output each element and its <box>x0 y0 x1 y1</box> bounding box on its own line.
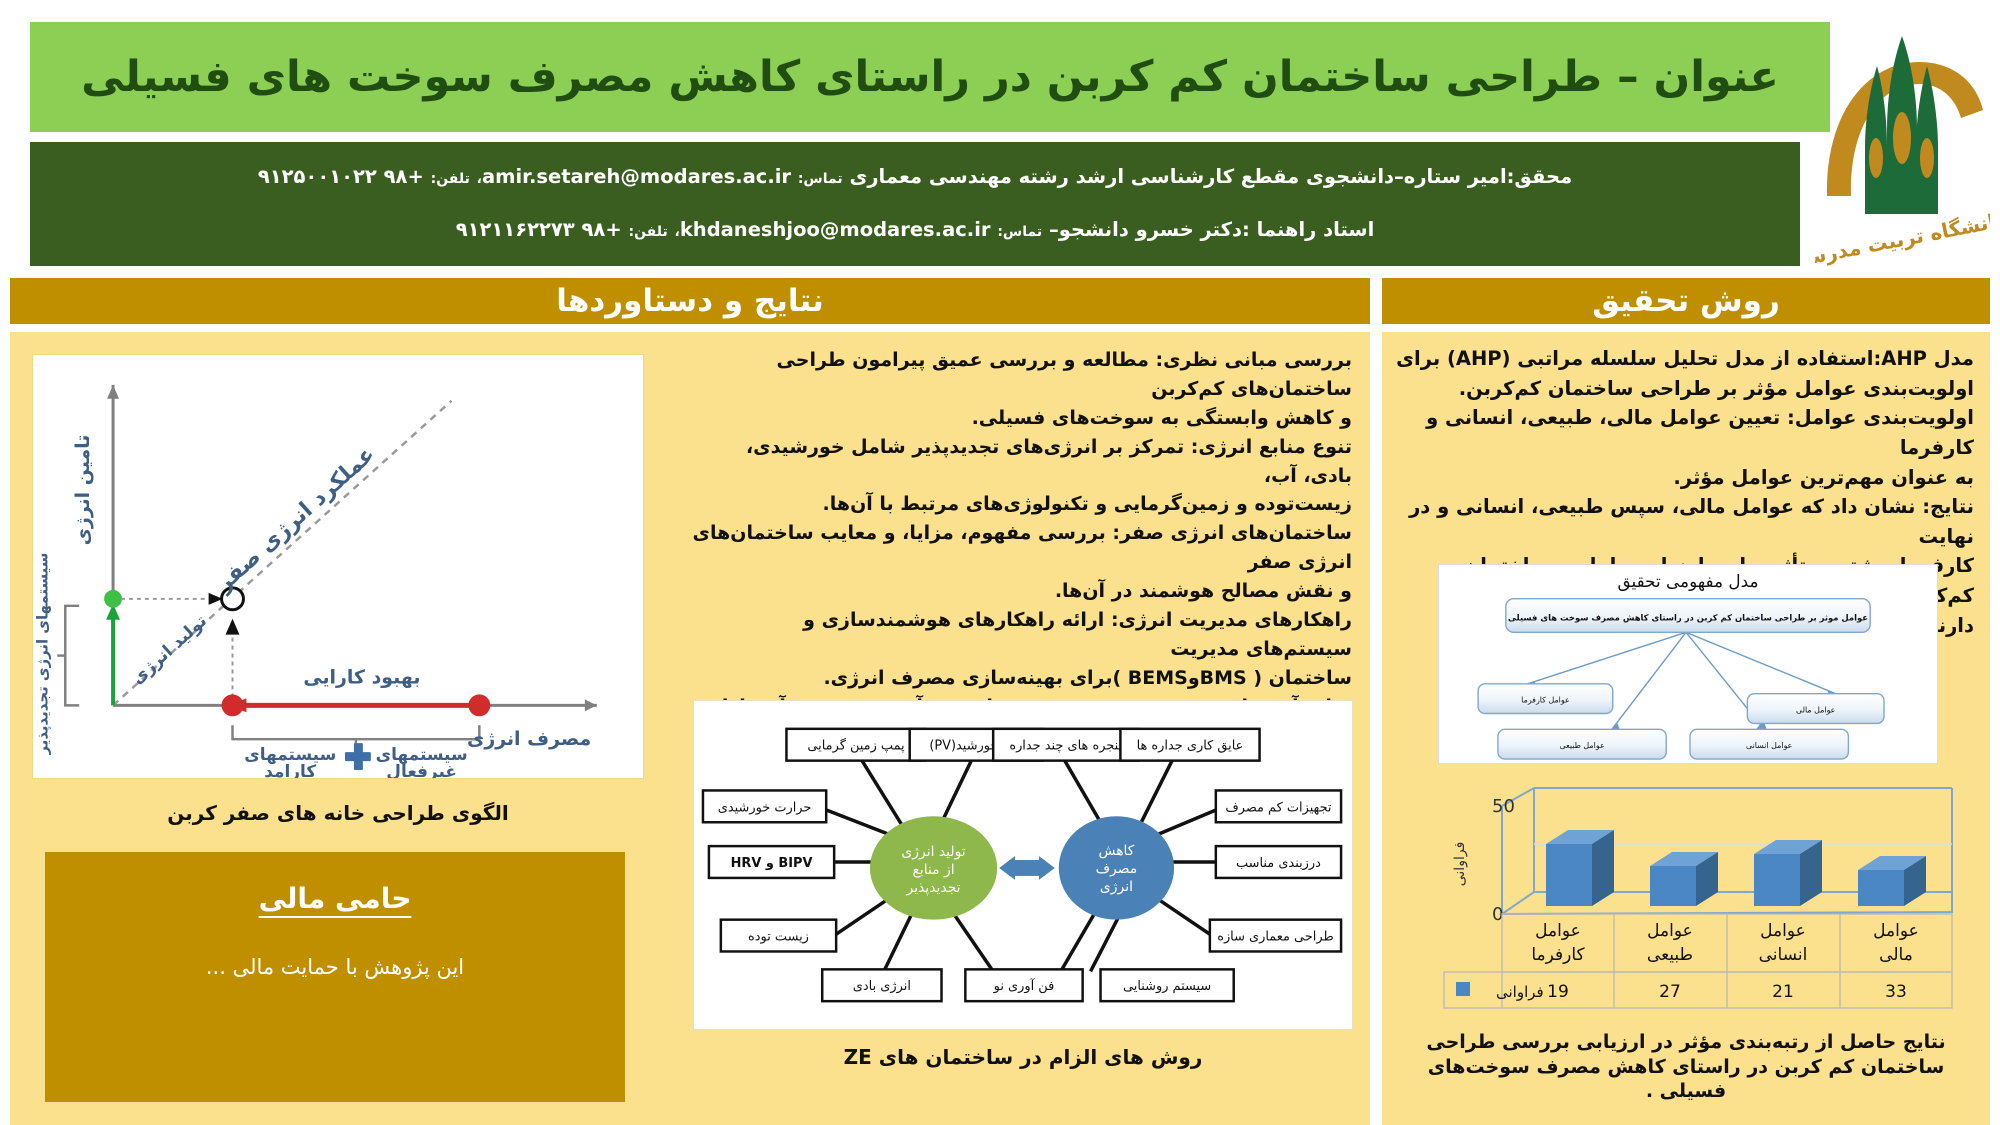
poster-title-bar: عنوان – طراحی ساختمان کم کربن در راستای … <box>30 22 1830 132</box>
sponsor-box: حامی مالی این پژوهش با حمایت مالی ... <box>45 852 625 1102</box>
diagram-y-axis-label: تامین انرژی <box>72 435 94 546</box>
data-value: 21 <box>1772 982 1794 1002</box>
node-label: طراحی معماری سازه <box>1217 930 1334 945</box>
university-logo: دانشگاه تربیت مدرس <box>1815 18 1990 266</box>
diagram-passive-label-2: غیرفعال <box>386 761 457 778</box>
supervisor-phone-label: تلفن: <box>628 224 667 240</box>
poster-root: عنوان – طراحی ساختمان کم کربن در راستای … <box>0 0 2000 1125</box>
node-label: پنجره های چند جداره <box>1009 739 1122 754</box>
left-hub-label-1: تولید انرژی <box>901 844 965 860</box>
supervisor-contact-label: تماس: <box>997 224 1042 240</box>
category-label: عوامل <box>1873 921 1919 941</box>
y-tick-top: 50 <box>1492 796 1515 817</box>
right-line: اولویت‌بندی عوامل: تعیین عوامل مالی، طبی… <box>1396 403 1974 462</box>
mid-line: ساختمان ( BMSوBEMS )برای بهینه‌سازی مصرف… <box>692 664 1352 693</box>
mid-line: ساختمان‌های انرژی صفر: بررسی مفهوم، مزای… <box>692 519 1352 577</box>
category-label-2: انسانی <box>1759 945 1808 965</box>
node-label: پمپ زمین گرمایی <box>807 738 905 754</box>
authors-bar: محقق:امیر ستاره–دانشجوی مقطع کارشناسی ار… <box>30 142 1800 266</box>
right-line: مدل AHP:استفاده از مدل تحلیل سلسله مراتب… <box>1396 344 1974 374</box>
bar-group <box>1858 856 1926 906</box>
concept-model-title: مدل مفهومی تحقیق <box>1618 571 1759 592</box>
category-label-2: طبیعی <box>1647 945 1693 965</box>
category-label: عوامل <box>1760 921 1806 941</box>
concept-root-label: عوامل موثر بر طراحی ساختمان کم کربن در ر… <box>1508 612 1868 623</box>
supervisor-email[interactable]: khdaneshjoo@modares.ac.ir <box>680 218 991 241</box>
left-hub-label-3: تجدیدپذیر <box>906 880 961 896</box>
zero-carbon-design-diagram: تامین انرژی مصرف انرژی عملکرد انرژی صفر … <box>32 354 644 779</box>
diagram-renewable-bracket-label: سیستمهای انرژی تجدیدپذیر <box>33 553 51 756</box>
left-panel: تامین انرژی مصرف انرژی عملکرد انرژی صفر … <box>10 332 675 1125</box>
right-hub-label-1: کاهش <box>1098 843 1134 859</box>
right-line: اولویت‌بندی عوامل مؤثر بر طراحی ساختمان … <box>1396 374 1974 404</box>
concept-child-label: عوامل مالی <box>1796 706 1835 715</box>
data-value: 33 <box>1885 982 1907 1002</box>
mindmap-node: پنجره های چند جداره <box>993 729 1138 761</box>
mindmap-node: تجهیزات کم مصرف <box>1216 790 1341 822</box>
category-label: عوامل <box>1647 921 1693 941</box>
mindmap-node: BIPV و HRV <box>709 846 834 878</box>
right-figure-caption: نتایج حاصل از رتبه‌بندی مؤثر در ارزیابی … <box>1394 1030 1978 1104</box>
mindmap-node: فن آوری نو <box>965 969 1082 1001</box>
researcher-email[interactable]: amir.setareh@modares.ac.ir <box>482 165 791 188</box>
concept-child-label: عوامل کارفرما <box>1521 696 1570 705</box>
logo-caption-text: دانشگاه تربیت مدرس <box>1815 207 1990 266</box>
mid-line: و کاهش وابستگی به سوخت‌های فسیلی. <box>692 404 1352 433</box>
right-line: به عنوان مهم‌ترین عوامل مؤثر. <box>1396 463 1974 493</box>
mid-line: راهکارهای مدیریت انرژی: ارائه راهکارهای … <box>692 606 1352 664</box>
bar-group <box>1754 840 1822 906</box>
concept-child-label: عوامل طبیعی <box>1559 741 1604 750</box>
mindmap-node: انرژی بادی <box>822 969 941 1001</box>
frequency-bar-chart: 50 0 فراوانی <box>1392 784 1982 1022</box>
supervisor-name: استاد راهنما :دکتر خسرو دانشجو– <box>1049 218 1374 241</box>
left-hub-label-2: از منابع <box>912 862 954 878</box>
supervisor-phone: +۹۸ ۹۱۲۱۱۶۲۲۷۳ <box>456 218 622 241</box>
node-label: فن آوری نو <box>993 978 1055 994</box>
legend-label: فراوانی <box>1496 983 1544 1001</box>
middle-figure-caption: روش های الزام در ساختمان های ZE <box>693 1044 1353 1070</box>
section-title-results: نتایج و دستاوردها <box>556 283 824 319</box>
ze-methods-mindmap: تولید انرژی از منابع تجدیدپذیر کاهش مصرف… <box>693 700 1353 1030</box>
y-axis-label: فراوانی <box>1452 842 1468 887</box>
node-label: عایق کاری جداره ها <box>1137 739 1244 754</box>
mindmap-node: طراحی معماری سازه <box>1210 920 1341 952</box>
mindmap-node: درزبندی مناسب <box>1216 846 1341 878</box>
researcher-phone: +۹۸ ۹۱۲۵۰۰۱۰۲۲ <box>258 165 424 188</box>
mindmap-node: عایق کاری جداره ها <box>1120 729 1259 761</box>
right-hub-label-2: مصرف <box>1096 861 1138 877</box>
bar-group <box>1546 830 1614 906</box>
node-label: سیستم روشنایی <box>1123 979 1211 994</box>
mindmap-node: سیستم روشنایی <box>1101 969 1234 1001</box>
mid-line: تنوع منابع انرژی: تمرکز بر انرژی‌های تجد… <box>692 433 1352 491</box>
right-line: نتایج: نشان داد که عوامل مالی، سپس طبیعی… <box>1396 492 1974 551</box>
right-hub-label-3: انرژی <box>1100 879 1133 895</box>
page-title: عنوان – طراحی ساختمان کم کربن در راستای … <box>81 52 1779 102</box>
supervisor-line: استاد راهنما :دکتر خسرو دانشجو– تماس: kh… <box>70 220 1760 240</box>
right-panel: مدل AHP:استفاده از مدل تحلیل سلسله مراتب… <box>1382 332 1990 1125</box>
diagram-efficiency-label: بهبود کارایی <box>303 666 420 688</box>
section-header-method: روش تحقیق <box>1382 278 1990 324</box>
mid-line: زیست‌توده و زمین‌گرمایی و تکنولوژی‌های م… <box>692 490 1352 519</box>
sponsor-body: این پژوهش با حمایت مالی ... <box>81 955 589 979</box>
mindmap-node: پمپ زمین گرمایی <box>786 729 925 761</box>
left-figure-caption: الگوی طراحی خانه های صفر کربن <box>32 800 644 826</box>
researcher-contact-label: تماس: <box>798 171 843 187</box>
diagram-x-axis-label: مصرف انرژی <box>467 728 591 750</box>
category-label: عوامل <box>1535 921 1581 941</box>
data-value: 27 <box>1659 982 1681 1002</box>
mindmap-node: زیست توده <box>721 920 836 952</box>
legend-swatch <box>1456 982 1470 996</box>
middle-panel: بررسی مبانی نظری: مطالعه و بررسی عمیق پی… <box>675 332 1370 1125</box>
section-header-results: نتایج و دستاوردها <box>10 278 1370 324</box>
mid-line: و نقش مصالح هوشمند در آن‌ها. <box>692 577 1352 606</box>
diagram-efficient-label-2: کارامد <box>264 761 316 778</box>
node-label: انرژی بادی <box>853 979 911 994</box>
data-value: 19 <box>1547 982 1569 1002</box>
diagram-production-label: تولید انرژی <box>127 610 211 688</box>
concept-child-label: عوامل انسانی <box>1746 741 1792 750</box>
node-label: درزبندی مناسب <box>1236 856 1321 871</box>
node-label: حرارت خورشیدی <box>718 800 812 815</box>
mindmap-node: حرارت خورشیدی <box>703 790 826 822</box>
researcher-phone-label: تلفن: <box>431 171 470 187</box>
bar-group <box>1650 852 1718 906</box>
bidirectional-arrow-icon <box>999 856 1055 880</box>
node-label: تجهیزات کم مصرف <box>1225 800 1332 815</box>
researcher-line: محقق:امیر ستاره–دانشجوی مقطع کارشناسی ار… <box>70 167 1760 187</box>
mid-line: بررسی مبانی نظری: مطالعه و بررسی عمیق پی… <box>692 346 1352 404</box>
category-label-2: مالی <box>1879 945 1913 965</box>
node-label: BIPV و HRV <box>731 856 813 871</box>
conceptual-model-diagram: مدل مفهومی تحقیق عوامل موثر بر طراحی ساخ… <box>1438 564 1938 764</box>
node-label: زیست توده <box>748 930 809 945</box>
sponsor-title: حامی مالی <box>81 882 589 915</box>
section-title-method: روش تحقیق <box>1592 283 1780 319</box>
researcher-name: محقق:امیر ستاره–دانشجوی مقطع کارشناسی ار… <box>849 165 1572 188</box>
plus-icon <box>345 743 371 770</box>
diagram-diagonal-label: عملکرد انرژی صفر <box>211 442 380 598</box>
category-label-2: کارفرما <box>1531 945 1585 965</box>
